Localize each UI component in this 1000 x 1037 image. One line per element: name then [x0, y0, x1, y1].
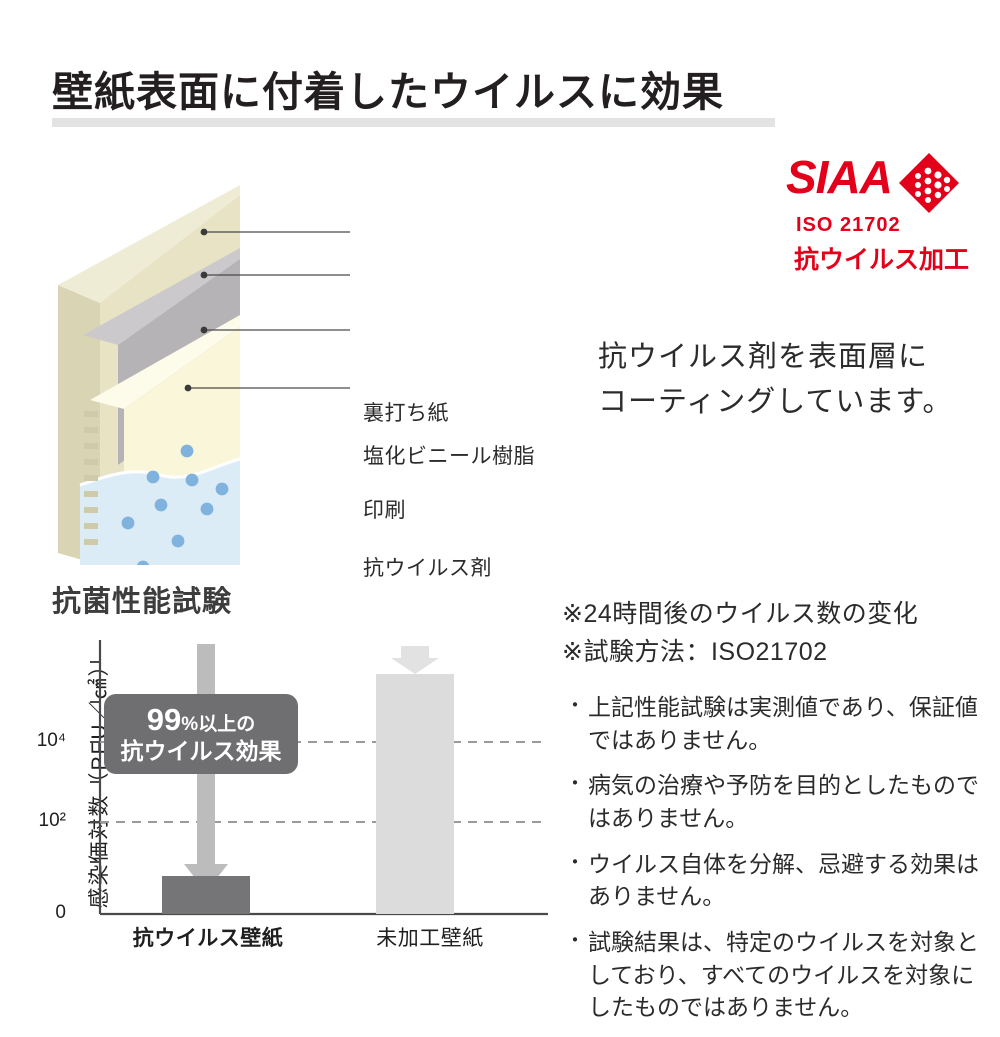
reduction-callout-badge: 99%以上の 抗ウイルス効果: [104, 694, 298, 774]
callout-line-1: 99%以上の: [147, 703, 255, 737]
wallpaper-layer-diagram: 裏打ち紙 塩化ビニール樹脂 印刷 抗ウイルス剤: [40, 175, 540, 565]
note-line-2: ※試験方法：ISO21702: [562, 634, 982, 672]
list-item-text: 試験結果は、特定のウイルスを対象としており、すべてのウイルスを対象にしたものでは…: [588, 926, 982, 1024]
bullet-icon: ・: [562, 769, 588, 834]
notes-panel: ※24時間後のウイルス数の変化 ※試験方法：ISO21702 ・ 上記性能試験は…: [562, 596, 982, 1037]
layer-label-antivirus: 抗ウイルス剤: [363, 552, 492, 582]
list-item: ・ 試験結果は、特定のウイルスを対象としており、すべてのウイルスを対象にしたもの…: [562, 926, 982, 1024]
list-item-text: 病気の治療や予防を目的としたものではありません。: [588, 769, 982, 834]
layer-label-vinyl-resin: 塩化ビニール樹脂: [363, 440, 535, 470]
bullet-icon: ・: [562, 848, 588, 913]
siaa-brand-text: SIAA: [786, 154, 892, 200]
bullet-icon: ・: [562, 926, 588, 1024]
title-underline-rule: [52, 118, 775, 127]
siaa-caption: 抗ウイルス加工: [794, 240, 969, 276]
y-tick-label-10e2: 10²: [6, 810, 66, 832]
siaa-logo-mark: SIAA: [786, 152, 958, 214]
note-line-1: ※24時間後のウイルス数の変化: [562, 596, 982, 634]
arrow-untreated-icon: [391, 646, 439, 674]
wallpaper-cross-section-illustration: [40, 175, 540, 565]
page-root: 壁紙表面に付着したウイルスに効果 SIAA ISO 21702 抗ウイルス加工 …: [0, 0, 1000, 1000]
callout-value: 99: [147, 702, 181, 737]
x-axis-label-treated: 抗ウイルス壁紙: [108, 922, 308, 952]
y-tick-label-10e4: 10⁴: [6, 730, 66, 752]
x-axis-label-untreated: 未加工壁紙: [330, 922, 530, 952]
callout-percent: %: [181, 714, 198, 735]
bar-treated: [162, 876, 250, 914]
layer-label-backing-paper: 裏打ち紙: [363, 397, 449, 427]
list-item: ・ 上記性能試験は実測値であり、保証値ではありません。: [562, 691, 982, 756]
bar-chart-svg: [36, 636, 556, 936]
page-title: 壁紙表面に付着したウイルスに効果: [52, 58, 724, 118]
list-item-text: ウイルス自体を分解、忌避する効果はありません。: [588, 848, 982, 913]
list-item: ・ 病気の治療や予防を目的としたものではありません。: [562, 769, 982, 834]
layer-label-print: 印刷: [363, 494, 406, 524]
bar-untreated: [376, 674, 454, 914]
antibacterial-performance-bar-chart: 10⁴ 10² 0: [36, 636, 556, 936]
siaa-certification-logo: SIAA ISO 21702 抗ウイルス加工: [786, 152, 958, 274]
bullet-icon: ・: [562, 691, 588, 756]
coating-description: 抗ウイルス剤を表面層に コーティングしています。: [598, 335, 953, 425]
chart-title: 抗菌性能試験: [52, 578, 232, 620]
disclaimer-list: ・ 上記性能試験は実測値であり、保証値ではありません。 ・ 病気の治療や予防を目…: [562, 691, 982, 1024]
backing-edge-texture: [84, 411, 98, 545]
callout-line-2: 抗ウイルス効果: [121, 737, 282, 766]
list-item-text: 上記性能試験は実測値であり、保証値ではありません。: [588, 691, 982, 756]
siaa-iso-standard: ISO 21702: [796, 214, 901, 237]
y-tick-label-zero: 0: [6, 902, 66, 924]
siaa-diamond-icon: [898, 152, 960, 214]
callout-suffix: 以上の: [198, 714, 255, 735]
list-item: ・ ウイルス自体を分解、忌避する効果はありません。: [562, 848, 982, 913]
